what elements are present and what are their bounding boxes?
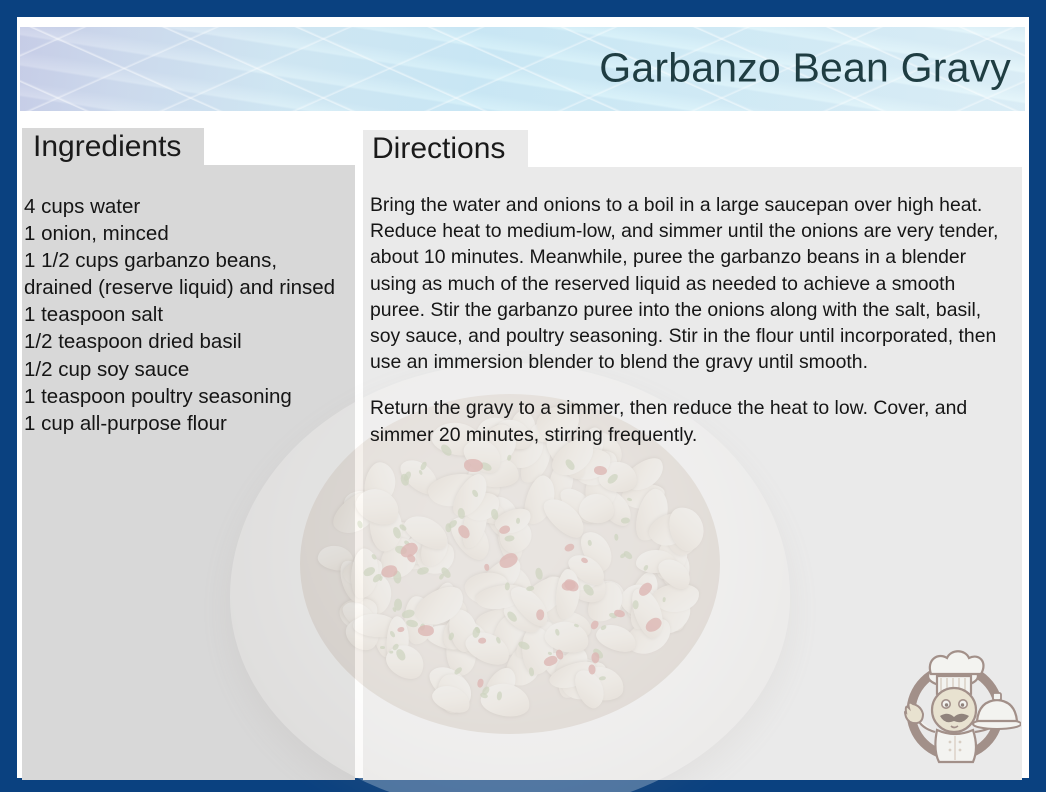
frame-border-left <box>0 0 17 792</box>
list-item: 1 cup all-purpose flour <box>22 410 360 437</box>
list-item: 1 teaspoon poultry seasoning <box>22 383 360 410</box>
page-title: Garbanzo Bean Gravy <box>599 45 1011 92</box>
directions-text: Bring the water and onions to a boil in … <box>370 192 1007 448</box>
directions-paragraph: Bring the water and onions to a boil in … <box>370 192 1007 375</box>
recipe-card: Garbanzo Bean Gravy Ingredients 4 cups w… <box>0 0 1046 792</box>
list-item: 4 cups water <box>22 193 360 220</box>
list-item: 1 teaspoon salt <box>22 301 360 328</box>
ingredients-list: 4 cups water 1 onion, minced 1 1/2 cups … <box>22 193 360 437</box>
ingredients-tab: Ingredients <box>22 128 204 167</box>
directions-paragraph: Return the gravy to a simmer, then reduc… <box>370 395 1007 447</box>
frame-border-right <box>1029 0 1046 792</box>
directions-tab: Directions <box>363 130 528 169</box>
frame-border-top <box>0 0 1046 17</box>
list-item: 1 onion, minced <box>22 220 360 247</box>
ingredients-heading: Ingredients <box>33 130 181 164</box>
list-item: 1/2 teaspoon dried basil <box>22 328 360 355</box>
list-item: 1/2 cup soy sauce <box>22 356 360 383</box>
directions-heading: Directions <box>372 132 505 166</box>
frame-border-bottom <box>0 778 1046 792</box>
list-item: drained (reserve liquid) and rinsed <box>22 274 360 301</box>
list-item: 1 1/2 cups garbanzo beans, <box>22 247 360 274</box>
title-banner: Garbanzo Bean Gravy <box>20 27 1025 111</box>
chef-logo <box>893 638 1021 766</box>
